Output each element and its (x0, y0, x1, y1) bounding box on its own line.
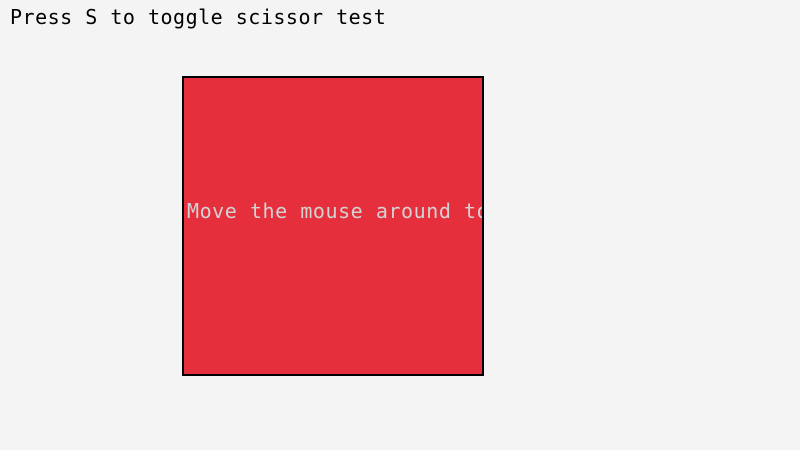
scissor-toggle-hint: Press S to toggle scissor test (10, 6, 386, 28)
scissor-rectangle[interactable]: Move the mouse around to reveal this tex… (182, 76, 484, 376)
scissor-fill (184, 78, 482, 374)
scissor-clipped-message: Move the mouse around to reveal this tex… (187, 200, 484, 222)
raylib-canvas: Press S to toggle scissor test Move the … (0, 0, 800, 450)
